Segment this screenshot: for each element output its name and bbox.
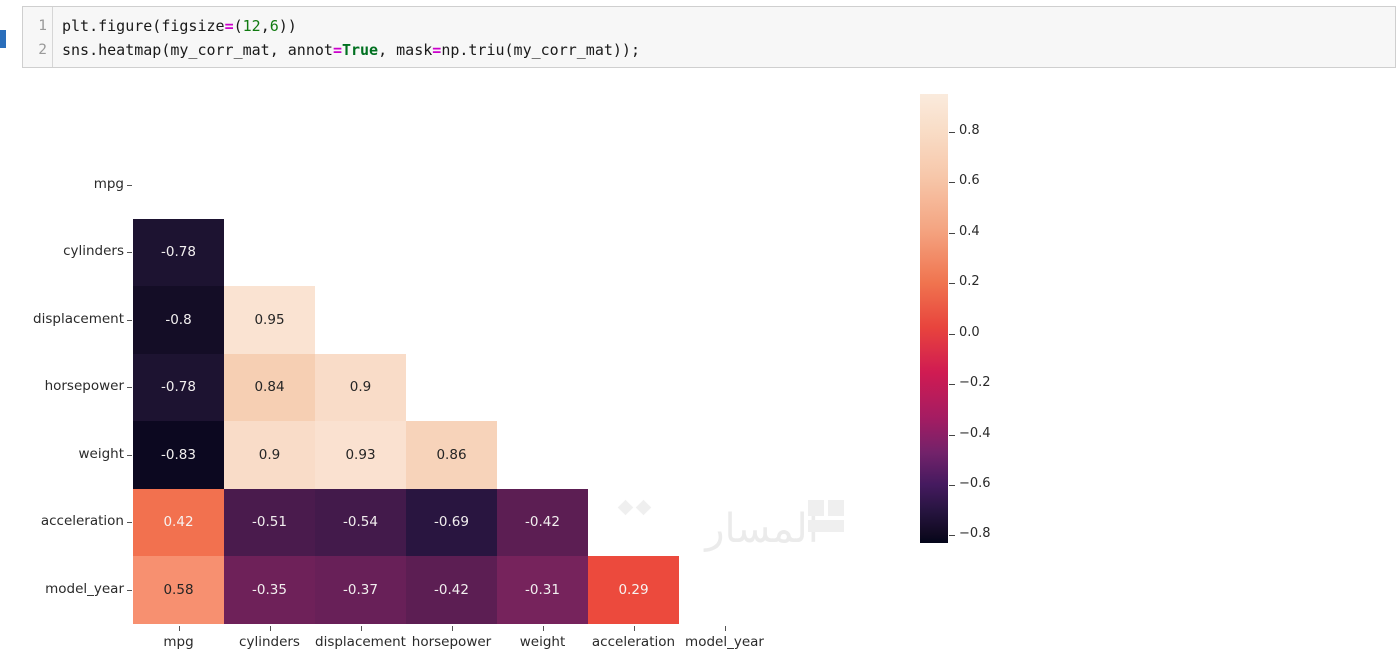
y-axis-tick-label: acceleration	[0, 513, 124, 529]
y-axis-tick-mark	[127, 320, 132, 321]
y-axis-tick-mark	[127, 455, 132, 456]
heatmap-cell: -0.51	[224, 489, 315, 557]
code-line-2: sns.heatmap(my_corr_mat, annot=True, mas…	[62, 38, 1395, 62]
heatmap-cell: 0.29	[588, 556, 679, 624]
heatmap-cell: -0.42	[497, 489, 588, 557]
cell-value: 0.84	[254, 379, 284, 395]
y-axis-tick-mark	[127, 387, 132, 388]
line-number-gutter: 1 2	[23, 7, 53, 67]
heatmap-cell: 0.9	[224, 421, 315, 489]
cell-value: -0.54	[343, 514, 378, 530]
cell-value: -0.8	[165, 312, 191, 328]
heatmap-cell: -0.31	[497, 556, 588, 624]
y-axis-tick-label: mpg	[0, 176, 124, 192]
cell-value: -0.42	[525, 514, 560, 530]
colorbar-tick-label: 0.6	[959, 173, 980, 188]
cell-value: -0.42	[434, 582, 469, 598]
heatmap-cell: -0.69	[406, 489, 497, 557]
heatmap-cell: -0.83	[133, 421, 224, 489]
colorbar-tick-label: −0.4	[959, 426, 991, 441]
colorbar-tick-mark	[949, 283, 955, 284]
heatmap-cell: 0.9	[315, 354, 406, 422]
y-axis-tick-mark	[127, 522, 132, 523]
colorbar-tick-mark	[949, 182, 955, 183]
cell-value: -0.35	[252, 582, 287, 598]
heatmap-cell: 0.84	[224, 354, 315, 422]
cell-value: -0.69	[434, 514, 469, 530]
svg-text:المسار: المسار	[703, 506, 819, 552]
cell-value: -0.78	[161, 379, 196, 395]
heatmap-cell: -0.78	[133, 354, 224, 422]
cell-value: -0.51	[252, 514, 287, 530]
colorbar-tick-mark	[949, 384, 955, 385]
x-axis-tick-mark	[543, 626, 544, 631]
cell-value: 0.58	[163, 582, 193, 598]
colorbar-tick-mark	[949, 535, 955, 536]
colorbar-tick-mark	[949, 233, 955, 234]
colorbar-tick-mark	[949, 132, 955, 133]
heatmap-figure: mpgcylindersdisplacementhorsepowerweight…	[0, 74, 1400, 582]
code-editor[interactable]: 1 2 plt.figure(figsize=(12,6)) sns.heatm…	[22, 6, 1396, 68]
code-line-1: plt.figure(figsize=(12,6))	[62, 14, 1395, 38]
cell-value: 0.29	[618, 582, 648, 598]
y-axis-tick-label: cylinders	[0, 243, 124, 259]
heatmap-cell: 0.58	[133, 556, 224, 624]
heatmap-cell: 0.95	[224, 286, 315, 354]
heatmap-cell: -0.8	[133, 286, 224, 354]
y-axis-tick-mark	[127, 590, 132, 591]
colorbar-tick-label: −0.6	[959, 476, 991, 491]
line-number: 2	[38, 38, 52, 62]
colorbar-tick-label: −0.2	[959, 375, 991, 390]
heatmap-cell: -0.78	[133, 219, 224, 287]
heatmap-cell: 0.86	[406, 421, 497, 489]
cell-value: -0.78	[161, 244, 196, 260]
x-axis-tick-mark	[634, 626, 635, 631]
y-axis-tick-mark	[127, 185, 132, 186]
heatmap-cell: -0.37	[315, 556, 406, 624]
colorbar	[920, 94, 948, 543]
cell-value: 0.42	[163, 514, 193, 530]
colorbar-tick-mark	[949, 435, 955, 436]
colorbar-tick-label: 0.8	[959, 123, 980, 138]
cell-prompt-indicator	[0, 30, 6, 48]
heatmap-cell: 0.42	[133, 489, 224, 557]
x-axis-tick-label: model_year	[649, 634, 800, 650]
cell-value: 0.95	[254, 312, 284, 328]
heatmap-cell: -0.35	[224, 556, 315, 624]
heatmap-cell: -0.42	[406, 556, 497, 624]
cell-value: -0.31	[525, 582, 560, 598]
colorbar-tick-mark	[949, 334, 955, 335]
cell-value: 0.9	[350, 379, 371, 395]
cell-value: -0.83	[161, 447, 196, 463]
cell-value: 0.93	[345, 447, 375, 463]
y-axis-tick-label: weight	[0, 446, 124, 462]
cell-value: -0.37	[343, 582, 378, 598]
line-number: 1	[38, 14, 52, 38]
heatmap-cell: -0.54	[315, 489, 406, 557]
heatmap-cell: 0.93	[315, 421, 406, 489]
cell-value: 0.9	[259, 447, 280, 463]
y-axis-tick-label: model_year	[0, 581, 124, 597]
code-text-area[interactable]: plt.figure(figsize=(12,6)) sns.heatmap(m…	[53, 7, 1395, 67]
x-axis-tick-mark	[452, 626, 453, 631]
colorbar-tick-label: 0.2	[959, 274, 980, 289]
x-axis-tick-mark	[361, 626, 362, 631]
y-axis-tick-label: displacement	[0, 311, 124, 327]
colorbar-tick-mark	[949, 485, 955, 486]
notebook-cell: 1 2 plt.figure(figsize=(12,6)) sns.heatm…	[0, 0, 1400, 74]
colorbar-tick-label: 0.4	[959, 224, 980, 239]
colorbar-tick-label: 0.0	[959, 325, 980, 340]
x-axis-tick-mark	[179, 626, 180, 631]
y-axis-tick-mark	[127, 252, 132, 253]
cell-value: 0.86	[436, 447, 466, 463]
colorbar-tick-label: −0.8	[959, 526, 991, 541]
x-axis-tick-mark	[725, 626, 726, 631]
x-axis-tick-mark	[270, 626, 271, 631]
y-axis-tick-label: horsepower	[0, 378, 124, 394]
